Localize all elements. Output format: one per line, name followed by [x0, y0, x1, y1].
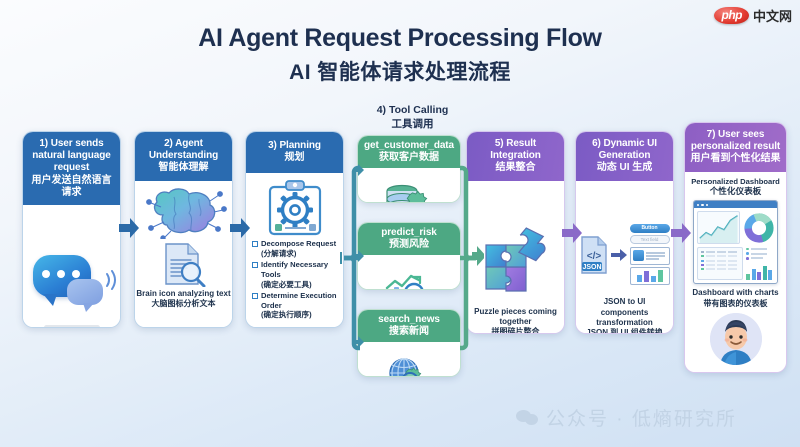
- tool-card-get-customer-data[interactable]: get_customer_data 获取客户数据 API: [357, 135, 461, 203]
- donut-chart-widget: [743, 211, 774, 244]
- card-header-en: 1) User sends natural language request: [27, 138, 116, 175]
- puzzle-icon: [478, 225, 554, 297]
- tool-name: predict_risk: [361, 227, 457, 239]
- card-caption-en: JSON to UI components transformation: [580, 297, 669, 328]
- tool-header: get_customer_data 获取客户数据: [358, 136, 460, 168]
- tool-calling-group-label: 4) Tool Calling 工具调用: [355, 104, 470, 131]
- planning-checklist: Decompose Request (分解请求) Identify Necess…: [246, 237, 343, 320]
- card-header-personalized-result: 7) User sees personalized result 用户看到个性化…: [685, 123, 786, 172]
- tool-header: search_news 搜索新闻: [358, 310, 460, 342]
- card-header-cn: 动态 UI 生成: [580, 162, 669, 174]
- checkbox-icon[interactable]: [252, 262, 258, 268]
- card-caption-cn: 大脑图标分析文本: [136, 299, 230, 309]
- card-personalized-result[interactable]: 7) User sees personalized result 用户看到个性化…: [684, 122, 787, 373]
- chat-bubbles-icon: [33, 255, 111, 313]
- chart-magnifier-icon: [381, 271, 437, 290]
- brand-watermark: 公众号 · 低熵研究所: [516, 404, 737, 431]
- checklist-cn: (确定必要工具): [261, 280, 312, 289]
- php-logo-text: 中文网: [753, 6, 792, 25]
- dashboard-title-en: Personalized Dashboard: [691, 177, 780, 187]
- brand-text: 公众号 · 低熵研究所: [546, 404, 737, 431]
- card-header-en: 5) Result Integration: [471, 138, 560, 162]
- card-dynamic-ui[interactable]: 6) Dynamic UI Generation 动态 UI 生成 </> JS…: [575, 131, 674, 334]
- card-header-cn: 用户看到个性化结果: [689, 153, 782, 165]
- ui-button-preview[interactable]: Button: [630, 224, 670, 233]
- card-header-cn: 用户发送自然语言请求: [27, 175, 116, 199]
- arrow-tools-5: [458, 160, 484, 356]
- line-chart-widget: [697, 211, 740, 244]
- ui-chart-preview: [630, 267, 670, 285]
- card-header-en: 6) Dynamic UI Generation: [580, 138, 669, 162]
- dashboard-icon: [693, 200, 778, 284]
- table-widget: [697, 247, 743, 280]
- checkbox-icon[interactable]: [252, 293, 258, 299]
- card-header-en: 3) Planning: [250, 140, 339, 152]
- php-logo-badge: php: [714, 7, 749, 24]
- title-chinese: AI 智能体请求处理流程: [0, 56, 800, 86]
- globe-api-icon: API: [386, 357, 432, 377]
- checklist-en: Determine Execution Order: [261, 291, 337, 310]
- tool-card-search-news[interactable]: search_news 搜索新闻 API: [357, 309, 461, 377]
- group-label-en: 4) Tool Calling: [355, 104, 470, 116]
- tool-name-cn: 预测风险: [361, 239, 457, 251]
- card-caption-cn: JSON 到 UI 组件转换: [580, 328, 669, 334]
- tool-name: get_customer_data: [361, 140, 457, 152]
- user-avatar-icon: [710, 313, 762, 365]
- arrow-1-2: [119, 217, 139, 239]
- card-header-en: 7) User sees personalized result: [689, 129, 782, 153]
- shadow-bar: [44, 325, 100, 328]
- transform-arrow-icon: [611, 249, 627, 261]
- bar-chart-widget: [746, 263, 774, 280]
- page-title: AI Agent Request Processing Flow AI 智能体请…: [0, 24, 800, 86]
- group-label-cn: 工具调用: [355, 116, 470, 131]
- card-header-cn: 规划: [250, 152, 339, 164]
- arrow-3-tools: [340, 160, 364, 356]
- card-header-en: 2) Agent Understanding: [139, 138, 228, 162]
- tool-name-cn: 获取客户数据: [361, 152, 457, 164]
- dashboard-title-cn: 个性化仪表板: [691, 186, 780, 197]
- card-header-cn: 智能体理解: [139, 162, 228, 174]
- card-caption-en: Brain icon analyzing text: [136, 289, 230, 299]
- brain-icon: [141, 185, 227, 239]
- title-english: AI Agent Request Processing Flow: [0, 24, 800, 53]
- checklist-item[interactable]: Determine Execution Order (确定执行顺序): [252, 291, 339, 321]
- code-glyph: </>: [586, 251, 601, 262]
- clipboard-gear-icon: [264, 179, 326, 237]
- tool-header: predict_risk 预测风险: [358, 223, 460, 255]
- ui-card-preview: [630, 247, 670, 265]
- checklist-item[interactable]: Identify Necessary Tools (确定必要工具): [252, 260, 339, 290]
- tool-name: search_news: [361, 314, 457, 326]
- card-header-planning: 3) Planning 规划: [246, 132, 343, 173]
- card-caption-en: Dashboard with charts: [692, 288, 778, 298]
- card-planning[interactable]: 3) Planning 规划 D: [245, 131, 344, 328]
- php-watermark: php 中文网: [714, 6, 792, 25]
- tool-name-cn: 搜索新闻: [361, 326, 457, 338]
- card-user-request[interactable]: 1) User sends natural language request 用…: [22, 131, 121, 328]
- arrow-6-7: [671, 222, 691, 244]
- list-widget: [746, 247, 774, 260]
- checklist-en: Identify Necessary Tools: [261, 260, 328, 279]
- arrow-2-3: [230, 217, 250, 239]
- card-header-cn: 结果整合: [471, 162, 560, 174]
- svg-text:JSON: JSON: [582, 264, 601, 271]
- ui-components-group: Button Text field: [630, 224, 670, 286]
- ui-textfield-preview[interactable]: Text field: [630, 235, 670, 244]
- tool-card-predict-risk[interactable]: predict_risk 预测风险: [357, 222, 461, 290]
- arrow-5-6: [562, 222, 582, 244]
- dashboard-title: Personalized Dashboard 个性化仪表板: [691, 177, 780, 198]
- card-caption-cn: 带有图表的仪表板: [692, 299, 778, 309]
- checklist-item[interactable]: Decompose Request (分解请求): [252, 239, 339, 259]
- card-header-dynamic-ui: 6) Dynamic UI Generation 动态 UI 生成: [576, 132, 673, 181]
- checklist-cn: (确定执行顺序): [261, 310, 312, 319]
- checklist-en: Decompose Request: [261, 239, 336, 248]
- card-header-agent-understanding: 2) Agent Understanding 智能体理解: [135, 132, 232, 181]
- card-agent-understanding[interactable]: 2) Agent Understanding 智能体理解: [134, 131, 233, 328]
- wechat-icon: [516, 410, 538, 426]
- database-api-icon: API: [380, 184, 438, 203]
- card-header-user-request: 1) User sends natural language request 用…: [23, 132, 120, 205]
- checkbox-icon[interactable]: [252, 241, 258, 247]
- document-magnifier-icon: [159, 241, 209, 287]
- json-file-icon: </> JSON: [580, 235, 608, 275]
- checklist-cn: (分解请求): [261, 249, 296, 258]
